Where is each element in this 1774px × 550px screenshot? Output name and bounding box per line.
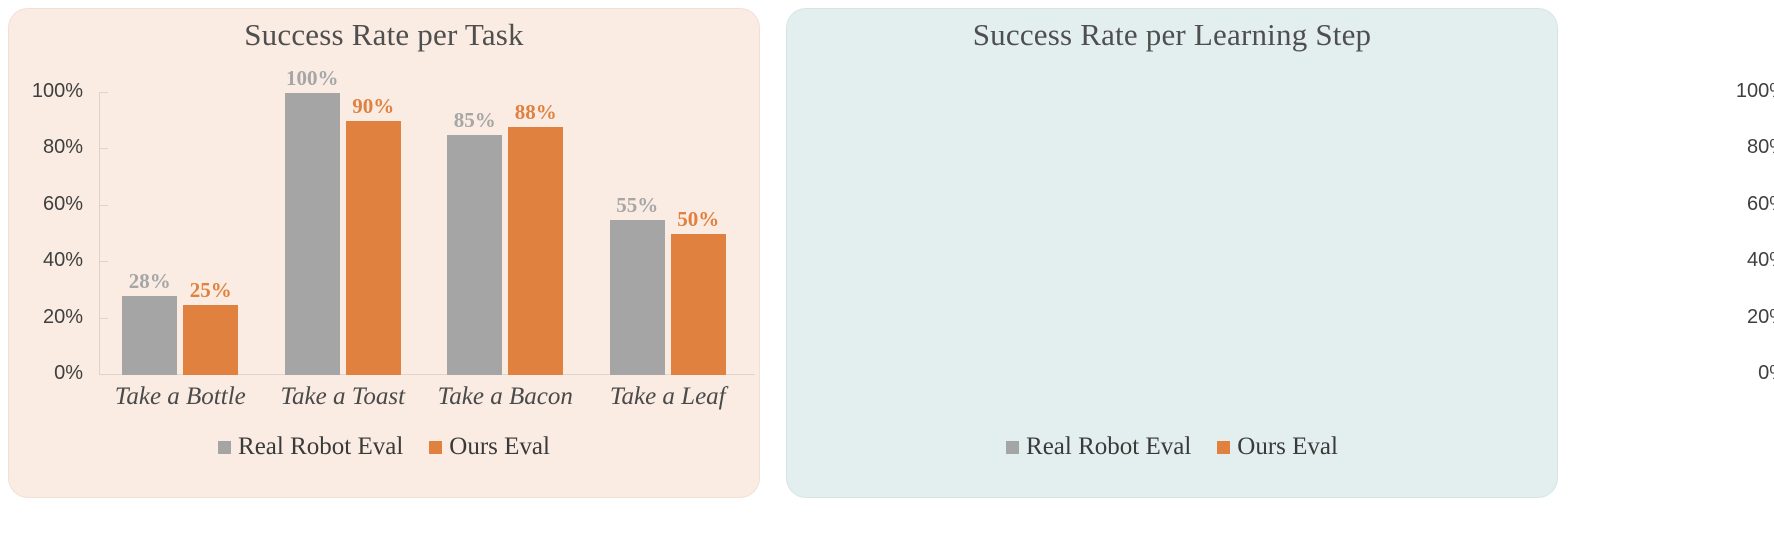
bar-slot: 88% xyxy=(508,93,563,375)
legend-left: Real Robot EvalOurs Eval xyxy=(9,433,759,461)
legend-label: Real Robot Eval xyxy=(1026,433,1191,461)
bar-group: 85%88% xyxy=(424,93,587,375)
category-label: Take a Leaf xyxy=(587,383,750,411)
bar-value-label: 88% xyxy=(515,102,557,123)
bar-group: 100%90% xyxy=(262,93,425,375)
y-tick-label: 100% xyxy=(32,80,83,103)
category-label: Take a Bottle xyxy=(99,383,262,411)
bar-ours-eval[interactable]: 88% xyxy=(508,127,563,375)
chart-title-left: Success Rate per Task xyxy=(9,17,759,53)
legend-item[interactable]: Ours Eval xyxy=(429,433,550,461)
legend-label: Real Robot Eval xyxy=(238,433,403,461)
legend-item[interactable]: Ours Eval xyxy=(1217,433,1338,461)
bar-group: 55%50% xyxy=(587,93,750,375)
y-tick-label: 40% xyxy=(1747,249,1774,272)
y-tick-label: 40% xyxy=(43,249,83,272)
bar-slot: 28% xyxy=(122,93,177,375)
bar-value-label: 85% xyxy=(454,110,496,131)
legend-item[interactable]: Real Robot Eval xyxy=(1006,433,1191,461)
bar-group: 28%25% xyxy=(99,93,262,375)
y-tick-label: 20% xyxy=(43,306,83,329)
y-tick-label: 80% xyxy=(1747,136,1774,159)
bar-value-label: 28% xyxy=(129,271,171,292)
legend-swatch-icon xyxy=(429,441,442,454)
bar-slot: 55% xyxy=(610,93,665,375)
legend-right: Real Robot EvalOurs Eval xyxy=(787,433,1557,461)
legend-label: Ours Eval xyxy=(1237,433,1338,461)
category-label: Take a Toast xyxy=(262,383,425,411)
bar-value-label: 25% xyxy=(190,280,232,301)
bar-ours-eval[interactable]: 90% xyxy=(346,121,401,375)
bar-slot: 85% xyxy=(447,93,502,375)
y-tick-label: 80% xyxy=(43,136,83,159)
bar-value-label: 100% xyxy=(286,68,339,89)
bar-value-label: 50% xyxy=(677,209,719,230)
legend-swatch-icon xyxy=(218,441,231,454)
y-tick-label: 60% xyxy=(43,193,83,216)
bar-real-robot-eval[interactable]: 28% xyxy=(122,296,177,375)
y-tick-label: 0% xyxy=(54,362,83,385)
legend-item[interactable]: Real Robot Eval xyxy=(218,433,403,461)
bar-real-robot-eval[interactable]: 85% xyxy=(447,135,502,375)
legend-swatch-icon xyxy=(1217,441,1230,454)
bar-value-label: 55% xyxy=(616,195,658,216)
bar-real-robot-eval[interactable]: 55% xyxy=(610,220,665,375)
legend-label: Ours Eval xyxy=(449,433,550,461)
category-labels-left: Take a BottleTake a ToastTake a BaconTak… xyxy=(99,383,749,411)
bar-ours-eval[interactable]: 50% xyxy=(671,234,726,375)
bar-value-label: 90% xyxy=(352,96,394,117)
plot-area-left: 0%20%40%60%80%100% 28%25%100%90%85%88%55… xyxy=(99,93,749,375)
y-tick-label: 20% xyxy=(1747,306,1774,329)
bar-groups-left: 28%25%100%90%85%88%55%50% xyxy=(99,93,749,375)
y-tick-label: 100% xyxy=(1736,80,1774,103)
bar-ours-eval[interactable]: 25% xyxy=(183,305,238,376)
bar-slot: 25% xyxy=(183,93,238,375)
bar-slot: 90% xyxy=(346,93,401,375)
chart-title-right: Success Rate per Learning Step xyxy=(787,17,1557,53)
bar-slot: 50% xyxy=(671,93,726,375)
bar-slot: 100% xyxy=(285,93,340,375)
chart-panel-success-rate-per-learning-step: Success Rate per Learning Step 0%20%40%6… xyxy=(786,8,1558,498)
category-label: Take a Bacon xyxy=(424,383,587,411)
bar-real-robot-eval[interactable]: 100% xyxy=(285,93,340,375)
figure-root: Success Rate per Task 0%20%40%60%80%100%… xyxy=(0,0,1774,550)
legend-swatch-icon xyxy=(1006,441,1019,454)
y-tick-label: 0% xyxy=(1758,362,1774,385)
chart-panel-success-rate-per-task: Success Rate per Task 0%20%40%60%80%100%… xyxy=(8,8,760,498)
y-tick-label: 60% xyxy=(1747,193,1774,216)
